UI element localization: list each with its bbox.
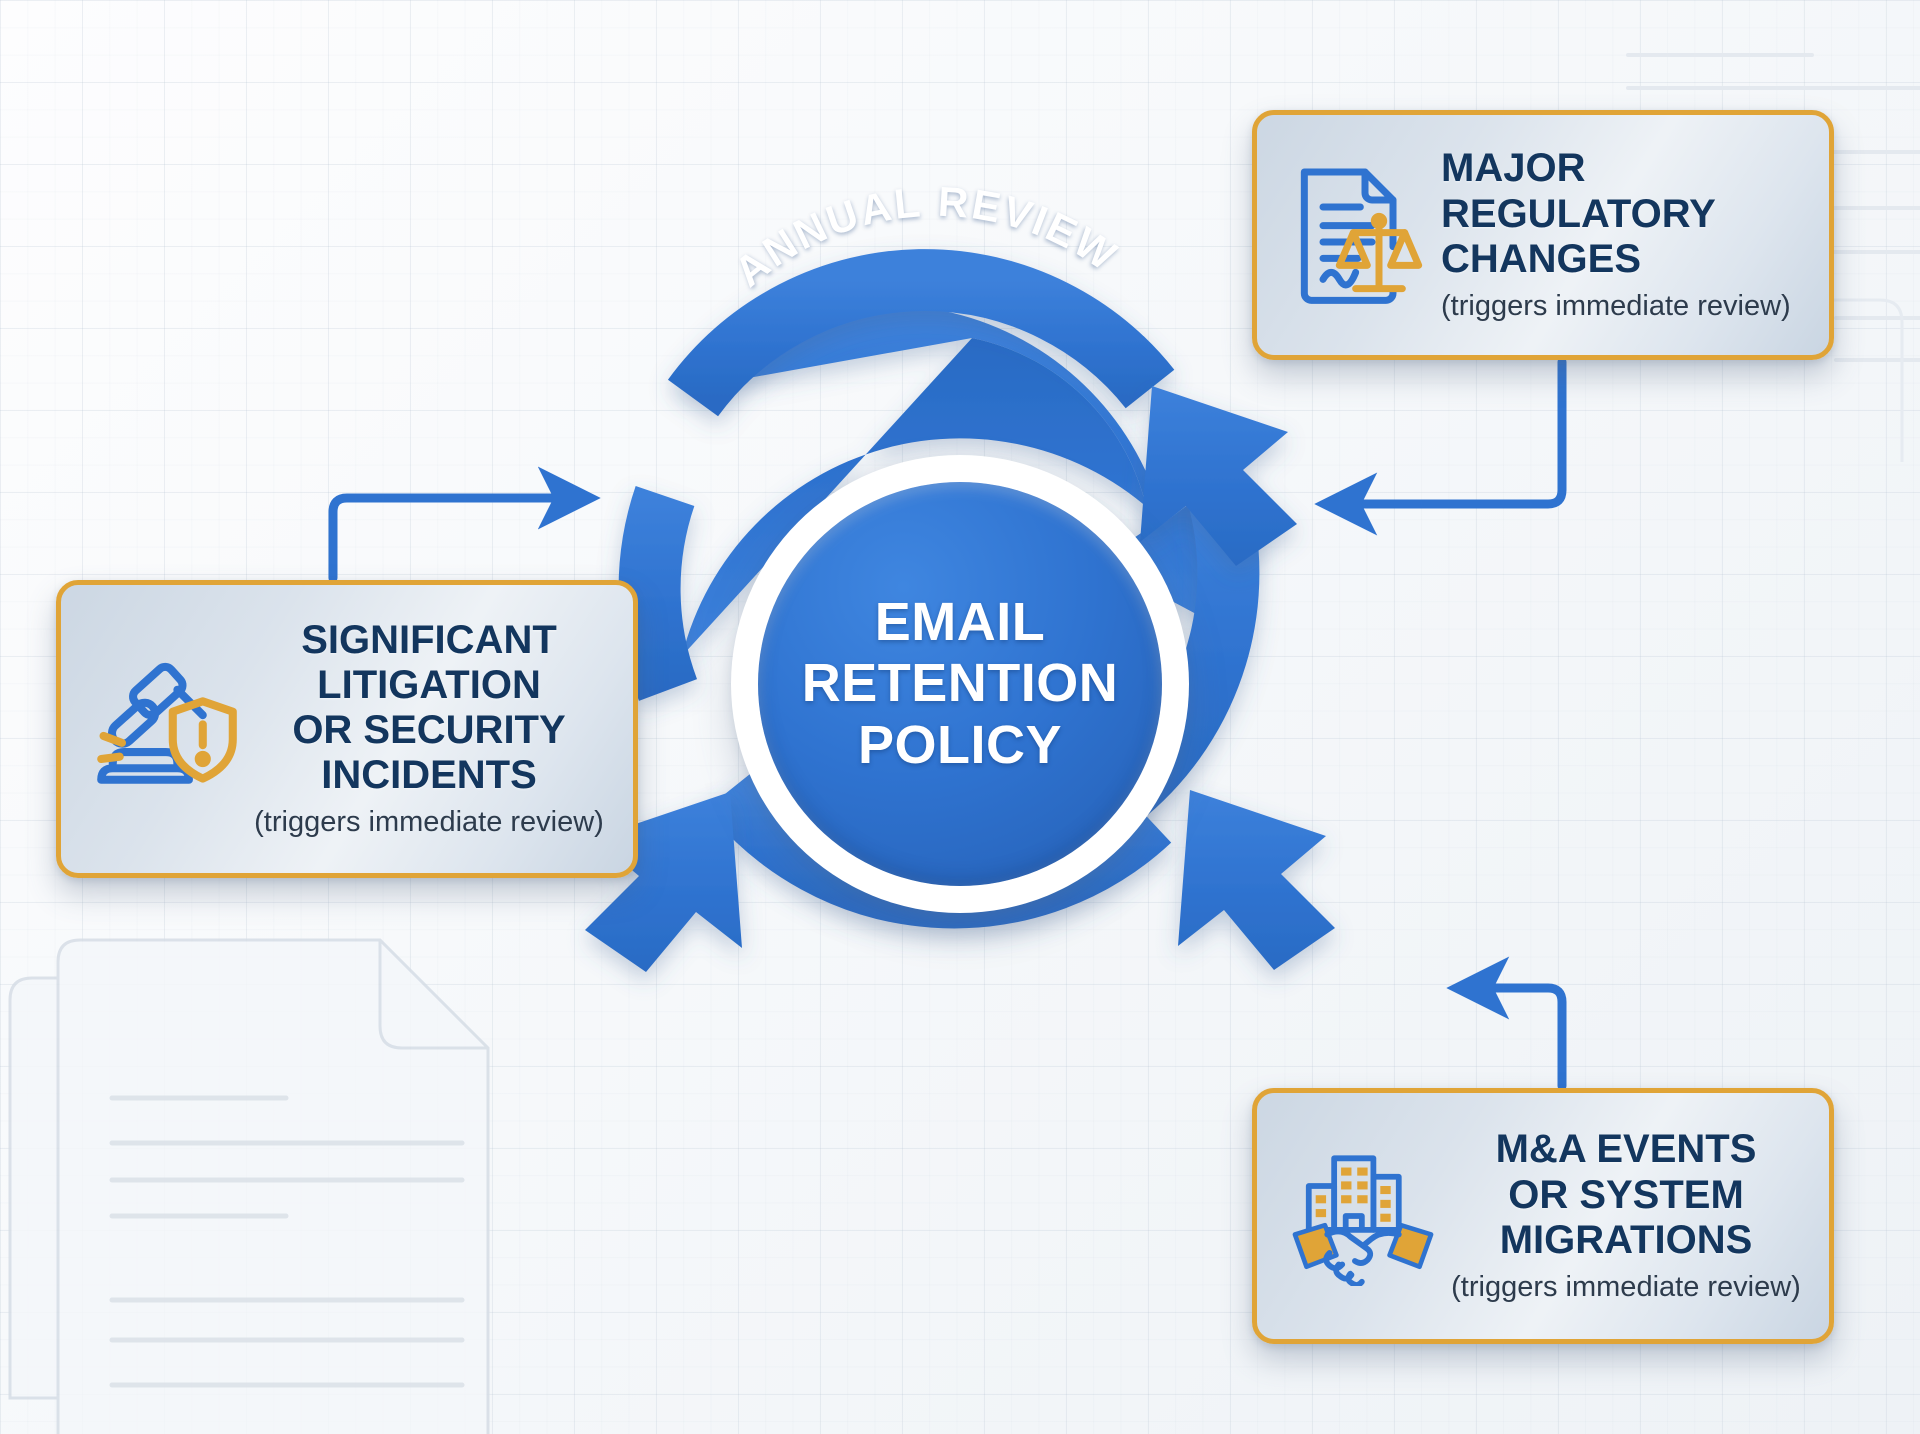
center-line-2: RETENTION (802, 653, 1119, 715)
trigger-card-ma[interactable]: M&A EVENTS OR SYSTEM MIGRATIONS (trigger… (1252, 1088, 1834, 1344)
title-line-3: CHANGES (1441, 237, 1803, 282)
center-line-3: POLICY (802, 715, 1119, 777)
center-hub-disc: EMAIL RETENTION POLICY (758, 482, 1162, 886)
trigger-card-ma-title: M&A EVENTS OR SYSTEM MIGRATIONS (1449, 1127, 1803, 1263)
connector-litigation (333, 498, 585, 578)
trigger-card-litigation-subtitle: (triggers immediate review) (251, 805, 607, 840)
connector-regulatory (1330, 362, 1562, 504)
document-scales-icon (1283, 160, 1433, 310)
trigger-card-ma-text: M&A EVENTS OR SYSTEM MIGRATIONS (trigger… (1449, 1127, 1803, 1304)
trigger-card-ma-subtitle: (triggers immediate review) (1449, 1270, 1803, 1305)
title-line-1: M&A EVENTS (1449, 1127, 1803, 1172)
center-hub-label: EMAIL RETENTION POLICY (802, 592, 1119, 777)
title-line-3: MIGRATIONS (1449, 1218, 1803, 1263)
connector-ma (1462, 988, 1562, 1086)
title-line-4: INCIDENTS (251, 753, 607, 798)
trigger-card-regulatory-title: MAJOR REGULATORY CHANGES (1441, 146, 1803, 282)
handshake-buildings-icon (1283, 1146, 1443, 1286)
title-line-2: LITIGATION (251, 663, 607, 708)
title-line-3: OR SECURITY (251, 708, 607, 753)
title-line-2: OR SYSTEM (1449, 1173, 1803, 1218)
trigger-card-regulatory[interactable]: MAJOR REGULATORY CHANGES (triggers immed… (1252, 110, 1834, 360)
trigger-card-litigation-title: SIGNIFICANT LITIGATION OR SECURITY INCID… (251, 618, 607, 799)
trigger-card-regulatory-subtitle: (triggers immediate review) (1441, 289, 1803, 324)
diagram-canvas: ANNUAL REVIEW EMAIL RETENTION P (0, 0, 1920, 1434)
title-line-1: SIGNIFICANT (251, 618, 607, 663)
center-hub: EMAIL RETENTION POLICY (731, 455, 1189, 913)
title-line-1: MAJOR (1441, 146, 1803, 191)
gavel-shield-alert-icon (87, 659, 247, 799)
title-line-2: REGULATORY (1441, 192, 1803, 237)
trigger-card-litigation-text: SIGNIFICANT LITIGATION OR SECURITY INCID… (251, 618, 607, 841)
center-line-1: EMAIL (802, 592, 1119, 654)
trigger-card-regulatory-text: MAJOR REGULATORY CHANGES (triggers immed… (1441, 146, 1803, 323)
trigger-card-litigation[interactable]: SIGNIFICANT LITIGATION OR SECURITY INCID… (56, 580, 638, 878)
